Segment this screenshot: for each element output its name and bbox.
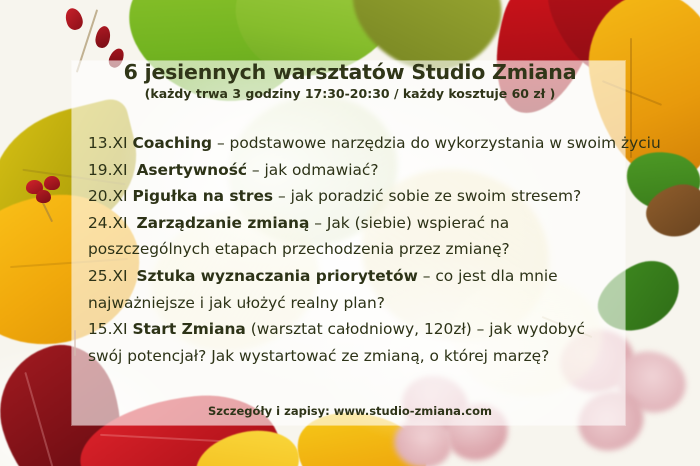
workshop-item-1: 13.XI Coaching – podstawowe narzędzia do… (88, 130, 618, 157)
workshop-list: 13.XI Coaching – podstawowe narzędzia do… (88, 130, 618, 369)
workshop-item-6: 15.XI Start Zmiana (warsztat całodniowy,… (88, 316, 618, 369)
workshop-desc: – podstawowe narzędzia do wykorzystania … (217, 134, 661, 152)
workshop-name: Asertywność (132, 161, 247, 179)
workshop-date: 24.XI (88, 214, 128, 232)
workshop-desc: – jak odmawiać? (252, 161, 379, 179)
page-title: 6 jesiennych warsztatów Studio Zmiana (0, 60, 700, 84)
page-subtitle: (każdy trwa 3 godziny 17:30-20:30 / każd… (0, 86, 700, 101)
workshop-item-4: 24.XI Zarządzanie zmianą – Jak (siebie) … (88, 210, 618, 263)
workshop-date: 19.XI (88, 161, 128, 179)
workshop-desc: – jak poradzić sobie ze swoim stresem? (278, 187, 581, 205)
workshop-item-2: 19.XI Asertywność – jak odmawiać? (88, 157, 618, 184)
workshop-date: 13.XI (88, 134, 128, 152)
workshop-name: Sztuka wyznaczania priorytetów (132, 267, 417, 285)
footer-contact: Szczegóły i zapisy: www.studio-zmiana.co… (0, 404, 700, 418)
workshop-name: Start Zmiana (132, 320, 245, 338)
workshop-item-3: 20.XI Pigułka na stres – jak poradzić so… (88, 183, 618, 210)
workshop-date: 20.XI (88, 187, 128, 205)
poster-content: 6 jesiennych warsztatów Studio Zmiana (k… (0, 0, 700, 466)
workshop-date: 25.XI (88, 267, 128, 285)
workshop-name: Pigułka na stres (132, 187, 273, 205)
workshop-date: 15.XI (88, 320, 128, 338)
poster-canvas: 6 jesiennych warsztatów Studio Zmiana (k… (0, 0, 700, 466)
workshop-name: Coaching (132, 134, 212, 152)
workshop-name: Zarządzanie zmianą (132, 214, 309, 232)
workshop-item-5: 25.XI Sztuka wyznaczania priorytetów – c… (88, 263, 618, 316)
